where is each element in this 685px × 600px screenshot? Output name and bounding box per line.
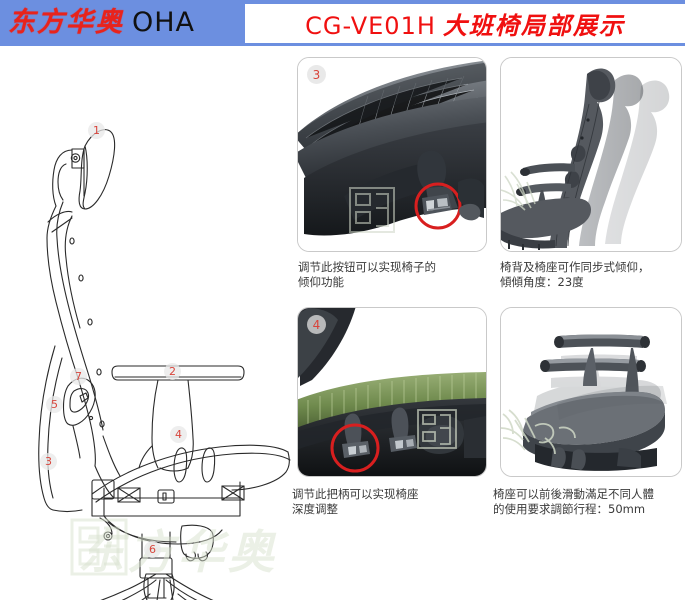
backrest-tilt-illustration — [501, 58, 681, 251]
callout-5: 5 — [46, 396, 63, 413]
brand-logo: 东方华奥 OHA — [8, 4, 195, 42]
callout-1: 1 — [88, 122, 105, 139]
model-code: CG-VE01H — [305, 12, 436, 40]
panel-badge-4: 4 — [307, 315, 326, 334]
product-feature-sheet: 东方华奥 OHA CG-VE01H大班椅局部展示 — [0, 0, 685, 600]
callout-7: 7 — [70, 368, 87, 385]
brand-logo-cn: 东方华奥 — [8, 4, 124, 42]
tilt-knob-illustration — [298, 58, 486, 251]
callout-3: 3 — [40, 453, 57, 470]
caption-seat-slide: 椅座可以前後滑動滿足不同人體 的使用要求調節行程：50mm — [493, 487, 685, 517]
callout-2: 2 — [164, 363, 181, 380]
seat-slide-illustration — [501, 308, 681, 476]
panel-tilt-knob[interactable]: 3 — [297, 57, 487, 252]
caption-backrest-tilt: 椅背及椅座可作同步式倾仰， 傾傾角度：23度 — [500, 260, 685, 290]
panel-seat-depth[interactable]: 4 — [297, 307, 487, 477]
callout-4: 4 — [170, 426, 187, 443]
panel-badge-3: 3 — [307, 65, 326, 84]
page-header: 东方华奥 OHA CG-VE01H大班椅局部展示 — [0, 0, 685, 46]
seat-depth-illustration — [298, 308, 486, 476]
panel-seat-slide[interactable] — [500, 307, 682, 477]
page-title: CG-VE01H大班椅局部展示 — [305, 6, 625, 41]
title-chinese: 大班椅局部展示 — [443, 12, 625, 40]
chair-diagram: 东方华奥 1 2 3 4 5 6 7 — [0, 46, 292, 600]
chair-line-art — [0, 46, 292, 600]
callout-6: 6 — [144, 541, 161, 558]
caption-tilt-knob: 调节此按钮可以实现椅子的 倾仰功能 — [298, 260, 488, 290]
brand-logo-en: OHA — [132, 4, 195, 42]
caption-seat-depth: 调节此把柄可以实现椅座 深度调整 — [292, 487, 487, 517]
title-box: CG-VE01H大班椅局部展示 — [245, 4, 685, 43]
panel-backrest-tilt[interactable] — [500, 57, 682, 252]
